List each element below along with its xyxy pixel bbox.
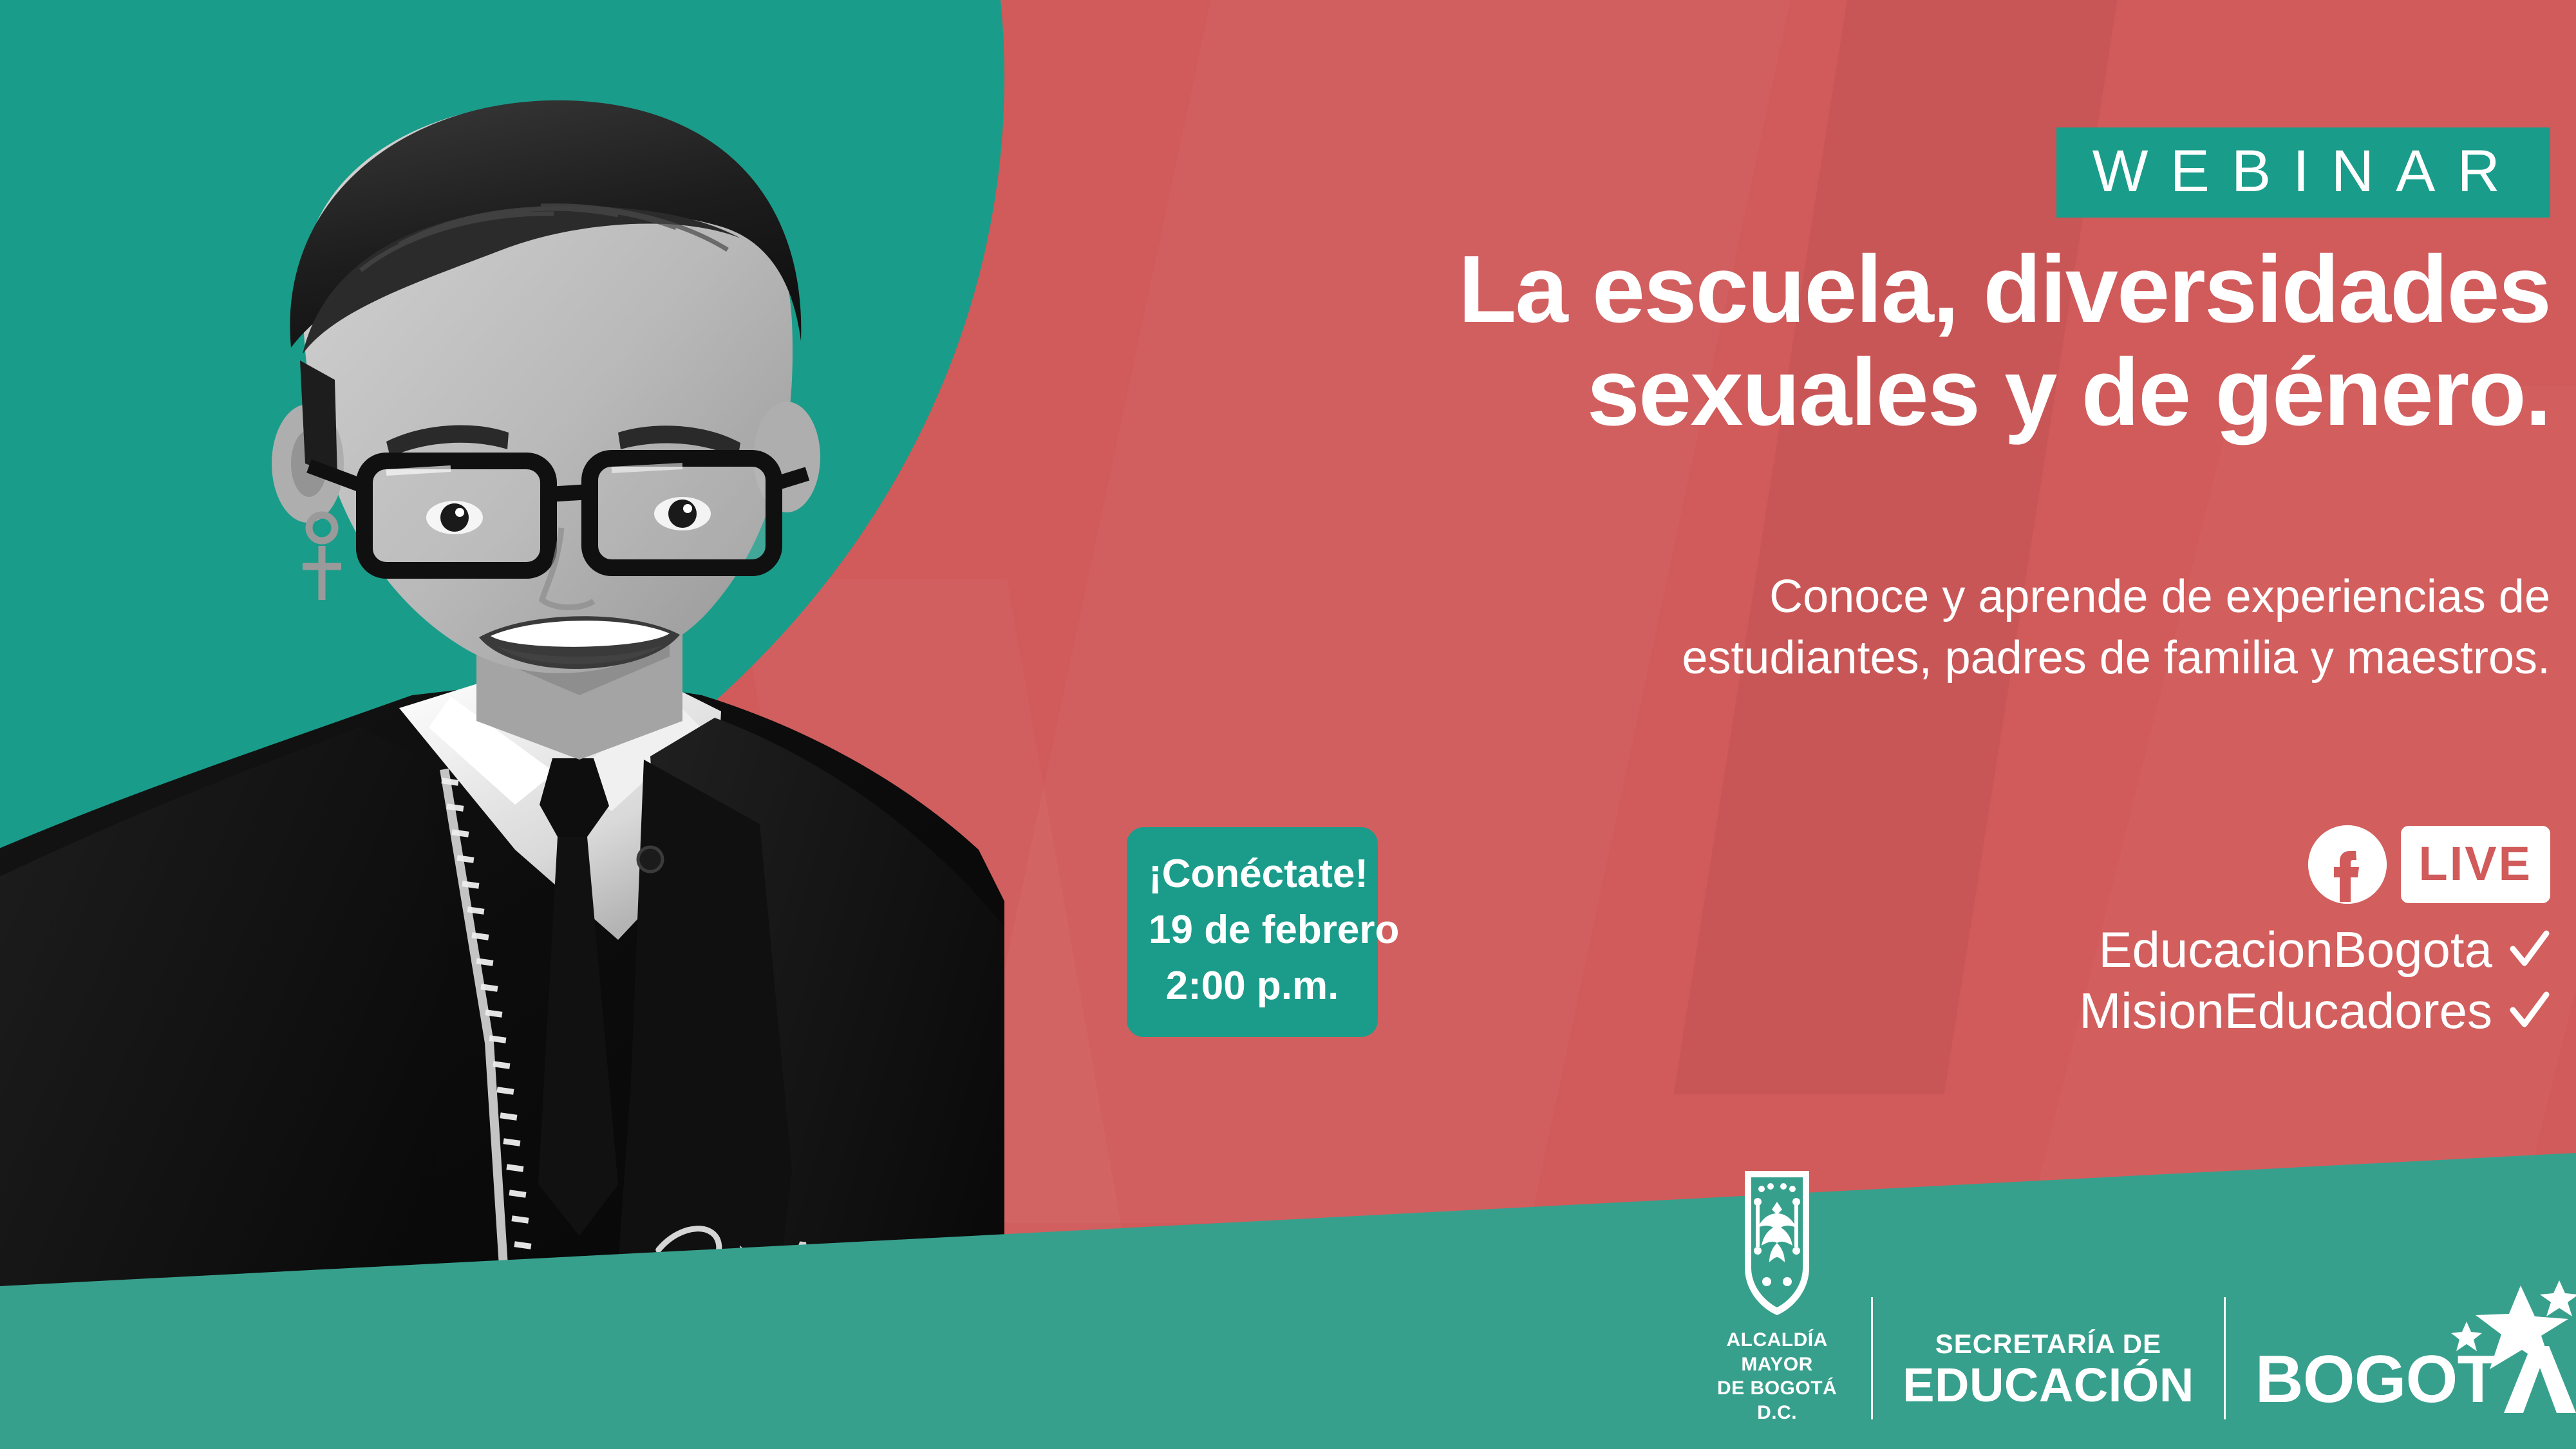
stars-icon xyxy=(2445,1279,2576,1376)
connect-label: ¡Conéctate! xyxy=(1149,846,1356,902)
alcaldia-line-1: ALCALDÍA MAYOR xyxy=(1713,1328,1841,1376)
alcaldia-caption: ALCALDÍA MAYOR DE BOGOTÁ D.C. xyxy=(1713,1328,1841,1425)
educacion-label: EDUCACIÓN xyxy=(1903,1360,2194,1410)
subtitle: Conoce y aprende de experiencias de estu… xyxy=(1198,566,2550,689)
subtitle-line-1: Conoce y aprende de experiencias de xyxy=(1198,566,2550,628)
footer-logos: ALCALDÍA MAYOR DE BOGOTÁ D.C. SECRETARÍA… xyxy=(1713,1167,2576,1425)
webinar-poster: WEBINAR La escuela, diversidades sexuale… xyxy=(0,0,2576,1449)
subtitle-line-2: estudiantes, padres de familia y maestro… xyxy=(1198,628,2550,689)
event-date: 19 de febrero xyxy=(1149,902,1356,958)
event-date-box: ¡Conéctate! 19 de febrero 2:00 p.m. xyxy=(1127,827,1378,1037)
webinar-badge: WEBINAR xyxy=(2056,127,2550,218)
bogota-coat-of-arms-icon xyxy=(1738,1167,1816,1319)
footer-divider xyxy=(2224,1297,2226,1419)
title-line-1: La escuela, diversidades xyxy=(1005,238,2550,341)
event-time: 2:00 p.m. xyxy=(1149,958,1356,1014)
live-badge[interactable]: LIVE xyxy=(2401,826,2550,903)
facebook-live-row[interactable]: LIVE xyxy=(2308,825,2550,904)
footer-divider xyxy=(1871,1297,1873,1419)
list-item[interactable]: MisionEducadores xyxy=(2079,980,2550,1042)
alcaldia-logo: ALCALDÍA MAYOR DE BOGOTÁ D.C. xyxy=(1713,1167,1871,1425)
handle-label: MisionEducadores xyxy=(2079,980,2492,1042)
bogota-logo: BOGOT xyxy=(2255,1346,2576,1413)
page-title: La escuela, diversidades sexuales y de g… xyxy=(1005,238,2550,444)
title-line-2: sexuales y de género. xyxy=(1005,341,2550,444)
facebook-icon[interactable] xyxy=(2308,825,2387,904)
handle-label: EducacionBogota xyxy=(2099,919,2492,980)
check-icon xyxy=(2509,991,2550,1032)
social-handles: EducacionBogota MisionEducadores xyxy=(2079,919,2550,1042)
check-icon xyxy=(2509,930,2550,971)
secretaria-educacion-logo: SECRETARÍA DE EDUCACIÓN xyxy=(1903,1328,2194,1410)
secretaria-label: SECRETARÍA DE xyxy=(1903,1328,2194,1360)
list-item[interactable]: EducacionBogota xyxy=(2079,919,2550,980)
alcaldia-line-2: DE BOGOTÁ D.C. xyxy=(1713,1376,1841,1425)
